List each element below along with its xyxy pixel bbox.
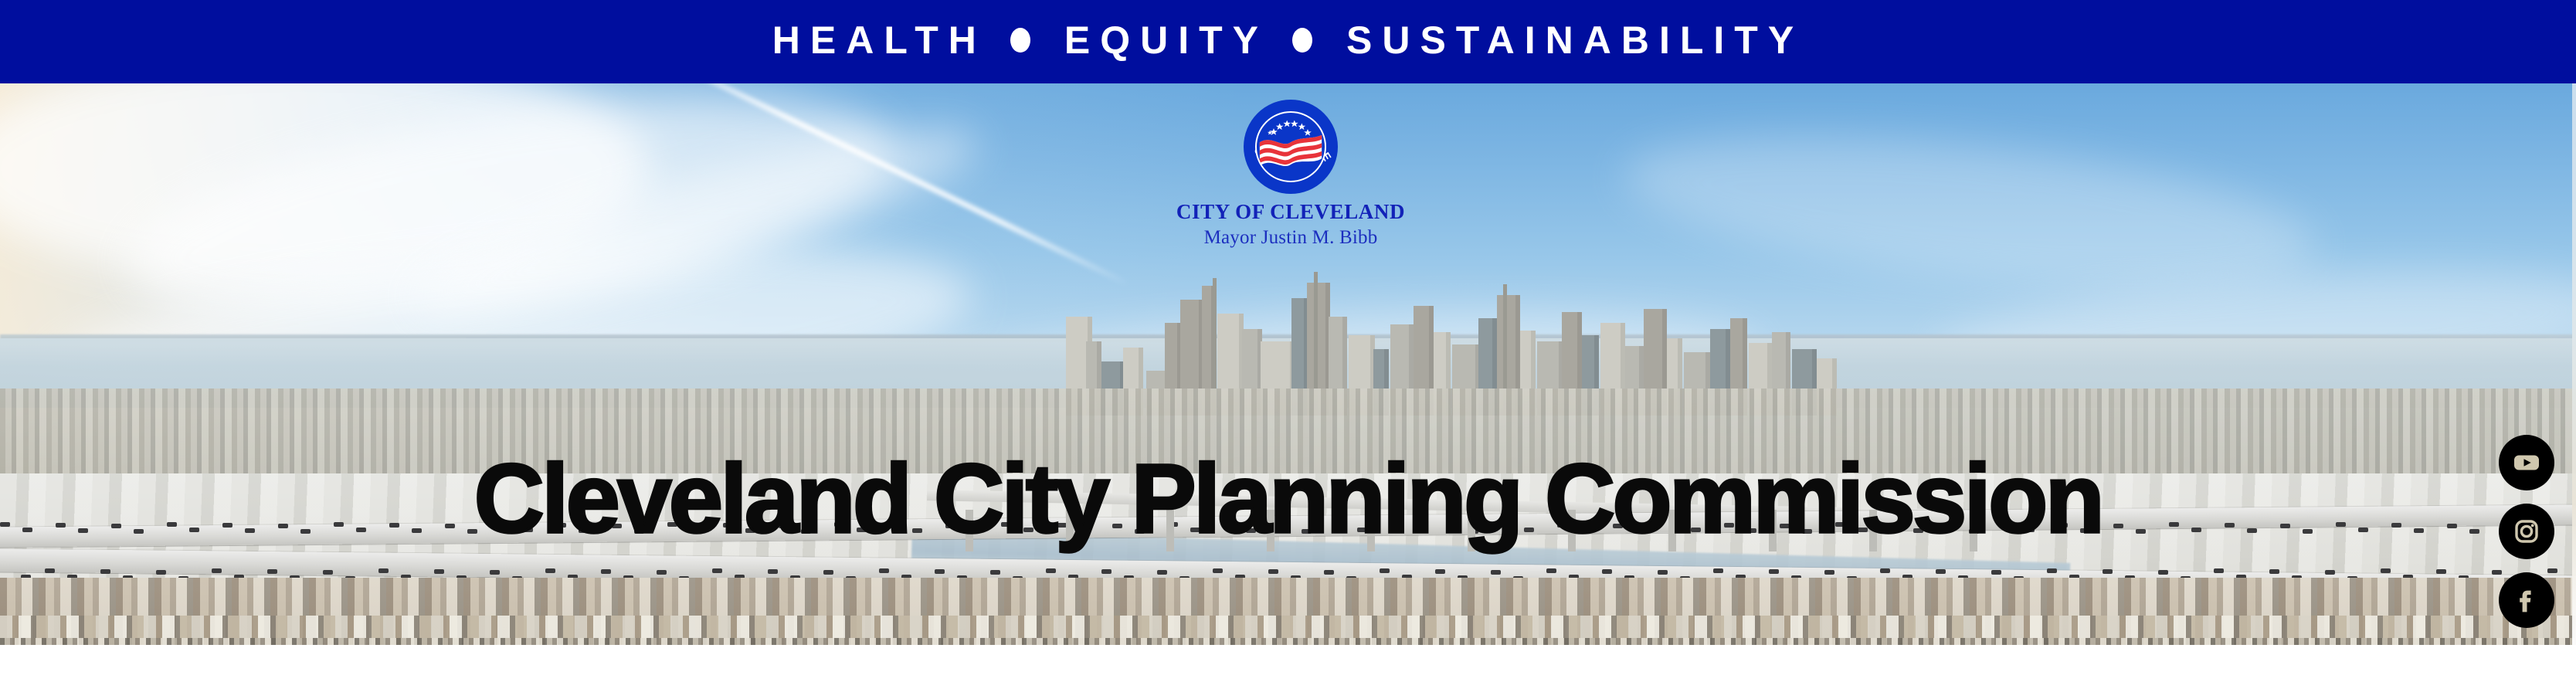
youtube-icon	[2511, 447, 2542, 478]
city-brand-block: CITY OF CLEVELAND OHIO	[1159, 100, 1422, 247]
city-of-cleveland-seal-icon: CITY OF CLEVELAND OHIO	[1244, 100, 1338, 194]
instagram-icon	[2511, 516, 2542, 547]
bullet-dot-icon	[1292, 28, 1312, 53]
hero-photo: CITY OF CLEVELAND OHIO	[0, 83, 2576, 645]
city-wordmark: CITY OF CLEVELAND	[1176, 202, 1405, 222]
bullet-dot-icon	[1010, 28, 1030, 53]
banner-word-health: HEALTH	[772, 21, 986, 59]
social-links	[2499, 435, 2554, 628]
banner-tagline: HEALTH EQUITY SUSTAINABILITY	[772, 21, 1804, 59]
banner-word-sustainability: SUSTAINABILITY	[1346, 21, 1804, 59]
foreground-neighbourhood	[0, 578, 2576, 645]
page-root: HEALTH EQUITY SUSTAINABILITY	[0, 0, 2576, 682]
facebook-link[interactable]	[2499, 572, 2554, 628]
youtube-link[interactable]	[2499, 435, 2554, 490]
instagram-link[interactable]	[2499, 504, 2554, 559]
page-title: Cleveland City Planning Commission	[0, 450, 2576, 548]
photo-right-edge	[2572, 83, 2576, 645]
photo-bottom-edge	[0, 638, 2576, 645]
top-banner: HEALTH EQUITY SUSTAINABILITY	[0, 0, 2576, 83]
page-bottom-margin	[0, 645, 2576, 682]
mayor-line: Mayor Justin M. Bibb	[1204, 228, 1378, 247]
banner-word-equity: EQUITY	[1064, 21, 1268, 59]
facebook-icon	[2511, 585, 2542, 616]
waving-flag-icon	[1257, 113, 1325, 181]
seal-inner-disc	[1255, 111, 1326, 182]
